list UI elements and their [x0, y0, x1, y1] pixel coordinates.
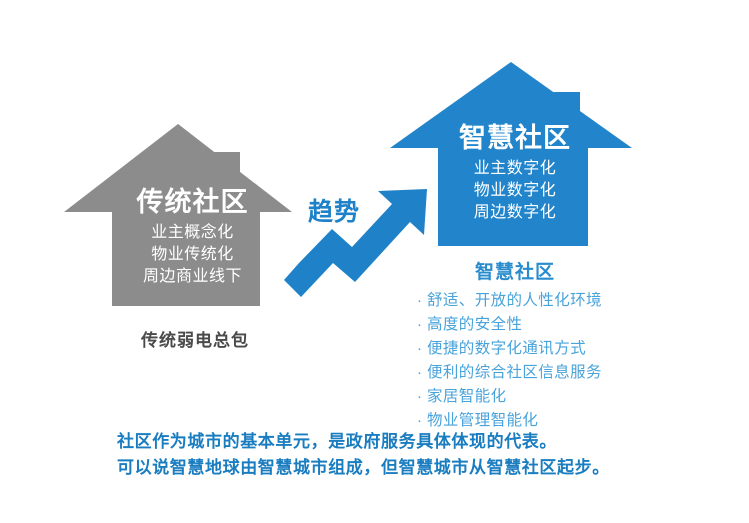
bullet-icon: · — [417, 313, 427, 337]
trend-label: 趋势 — [308, 192, 360, 228]
traditional-house-line: 业主概念化 — [100, 222, 285, 244]
diagram-canvas: 传统社区 业主概念化 物业传统化 周边商业线下 传统弱电总包 趋势 智慧社区 业… — [0, 0, 749, 523]
feature-item: · 舒适、开放的人性化环境 — [417, 289, 717, 313]
traditional-house-line: 周边商业线下 — [100, 266, 285, 288]
smart-house-lines: 业主数字化 物业数字化 周边数字化 — [420, 158, 610, 224]
feature-item-label: 舒适、开放的人性化环境 — [427, 289, 602, 313]
feature-item: · 便捷的数字化通讯方式 — [417, 337, 717, 361]
feature-list: · 舒适、开放的人性化环境 · 高度的安全性 · 便捷的数字化通讯方式 · 便利… — [417, 289, 717, 433]
traditional-house-title: 传统社区 — [95, 186, 290, 218]
traditional-house-line: 物业传统化 — [100, 244, 285, 266]
bullet-icon: · — [417, 385, 427, 409]
summary-text: 社区作为城市的基本单元，是政府服务具体体现的代表。 可以说智慧地球由智慧城市组成… — [117, 429, 737, 481]
feature-item: · 高度的安全性 — [417, 313, 717, 337]
feature-item-label: 家居智能化 — [427, 385, 507, 409]
feature-item-label: 便捷的数字化通讯方式 — [427, 337, 586, 361]
smart-house-line: 周边数字化 — [420, 202, 610, 224]
feature-item: · 家居智能化 — [417, 385, 717, 409]
feature-list-heading: 智慧社区 — [420, 257, 610, 284]
traditional-house-caption: 传统弱电总包 — [95, 326, 295, 351]
feature-item-label: 便利的综合社区信息服务 — [427, 361, 602, 385]
feature-item: · 便利的综合社区信息服务 — [417, 361, 717, 385]
smart-house-line: 物业数字化 — [420, 180, 610, 202]
smart-house-line: 业主数字化 — [420, 158, 610, 180]
traditional-house-lines: 业主概念化 物业传统化 周边商业线下 — [100, 222, 285, 288]
bullet-icon: · — [417, 289, 427, 313]
bullet-icon: · — [417, 361, 427, 385]
bullet-icon: · — [417, 337, 427, 361]
feature-item-label: 高度的安全性 — [427, 313, 522, 337]
summary-line: 可以说智慧地球由智慧城市组成，但智慧城市从智慧社区起步。 — [117, 455, 737, 481]
smart-house-title: 智慧社区 — [415, 122, 615, 154]
summary-line: 社区作为城市的基本单元，是政府服务具体体现的代表。 — [117, 429, 737, 455]
